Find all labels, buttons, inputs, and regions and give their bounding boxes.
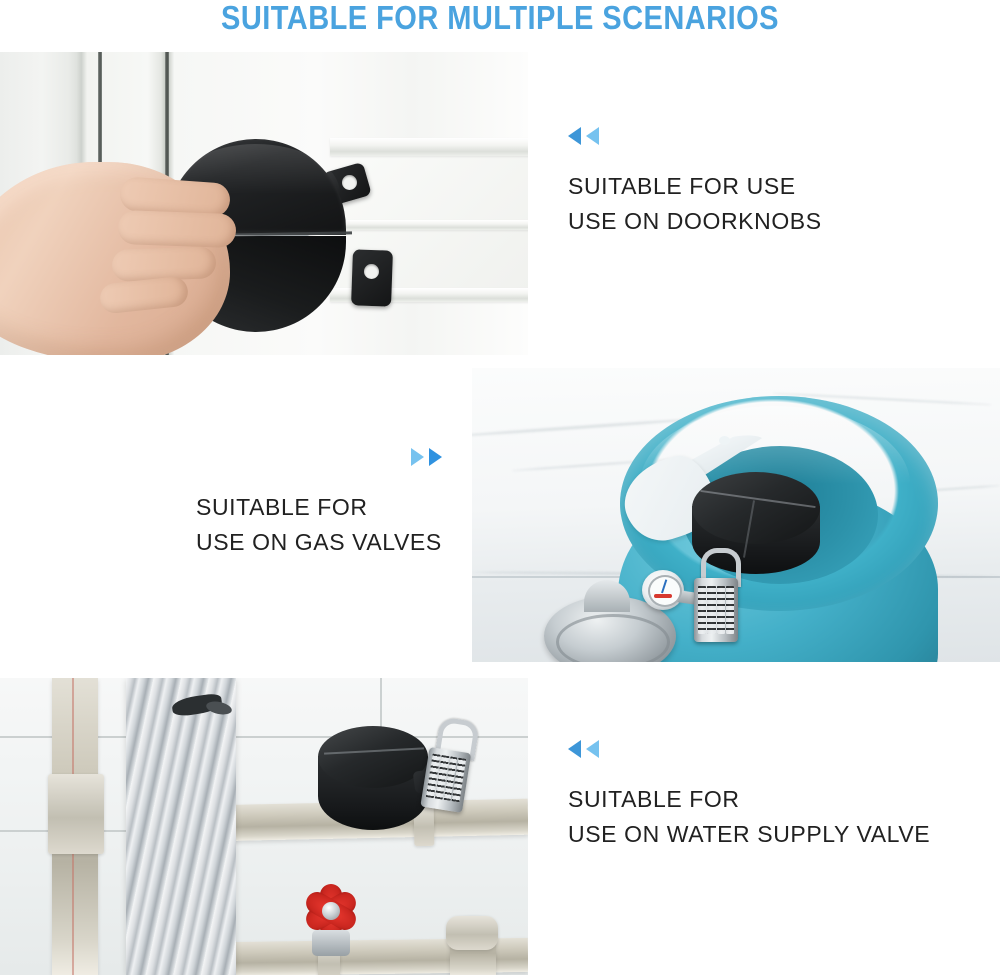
triangle-left-icon <box>568 740 581 758</box>
caption-line-2: USE ON DOORKNOBS <box>568 204 822 239</box>
caption-line-2: USE ON WATER SUPPLY VALVE <box>568 817 930 852</box>
infographic-page: SUITABLE FOR MULTIPLE SCENARIOS <box>0 0 1000 975</box>
triangle-right-icon <box>411 448 424 466</box>
caption-line-2: USE ON GAS VALVES <box>196 525 442 560</box>
caption-water-supply-valve: SUITABLE FOR USE ON WATER SUPPLY VALVE <box>568 738 930 852</box>
triangle-left-icon <box>586 740 599 758</box>
disc-lock-top <box>318 726 428 788</box>
caption-line-1: SUITABLE FOR USE <box>568 169 822 204</box>
door-rail <box>330 138 528 156</box>
water-valve-lock-photo <box>0 678 528 975</box>
triangle-right-icon <box>429 448 442 466</box>
finger <box>117 210 236 248</box>
triangle-left-icon <box>586 127 599 145</box>
gas-cylinder-vent-hole <box>719 436 730 445</box>
foil-insulated-pipe <box>126 678 236 975</box>
lock-hasp-hole <box>364 264 379 279</box>
caption-line-1: SUITABLE FOR <box>196 490 442 525</box>
valve-hub <box>322 902 340 920</box>
caption-text: SUITABLE FOR USE ON GAS VALVES <box>196 490 442 560</box>
pipe-coupling <box>48 774 104 854</box>
disc-lock-cover <box>318 726 428 838</box>
arrow-group-left <box>568 738 930 760</box>
caption-line-1: SUITABLE FOR <box>568 782 930 817</box>
padlock-dial <box>726 586 734 634</box>
arrow-group-left <box>568 125 822 147</box>
cylinder-regulator-ring <box>556 614 670 662</box>
lock-hasp-hole <box>342 175 357 190</box>
gas-cylinder-lock-photo <box>472 368 1000 662</box>
caption-text: SUITABLE FOR USE USE ON DOORKNOBS <box>568 169 822 239</box>
caption-gas-valves: SUITABLE FOR USE ON GAS VALVES <box>196 446 442 560</box>
door-rail <box>330 220 528 230</box>
caption-doorknobs: SUITABLE FOR USE USE ON DOORKNOBS <box>568 125 822 239</box>
finger <box>111 246 216 282</box>
doorknob-lock-photo <box>0 52 528 355</box>
combination-padlock <box>694 564 738 642</box>
padlock-dials <box>698 586 734 634</box>
triangle-left-icon <box>568 127 581 145</box>
padlock-dial <box>717 586 725 634</box>
arrow-group-right <box>196 446 442 468</box>
padlock-dial <box>698 586 706 634</box>
valve-stem <box>312 930 350 956</box>
caption-text: SUITABLE FOR USE ON WATER SUPPLY VALVE <box>568 782 930 852</box>
padlock-dials <box>426 754 466 803</box>
pipe-collar <box>446 916 498 950</box>
padlock-dial <box>707 586 715 634</box>
page-title: SUITABLE FOR MULTIPLE SCENARIOS <box>60 0 940 36</box>
pressure-gauge-red-zone <box>654 594 672 598</box>
disc-lock-top <box>692 472 820 544</box>
